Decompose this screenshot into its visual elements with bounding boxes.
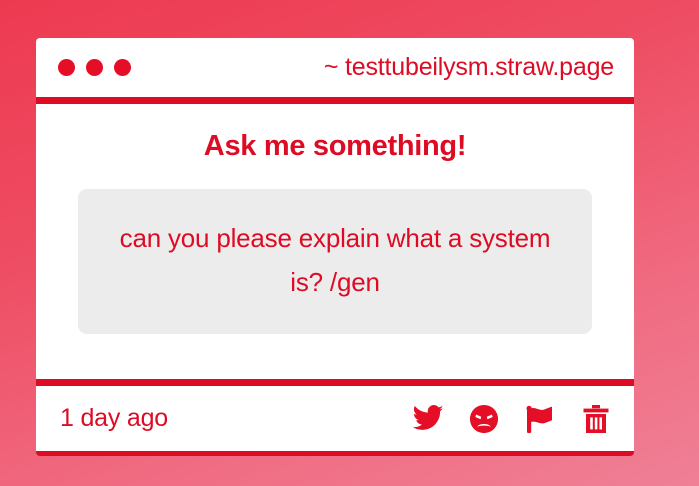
report-flag-button[interactable] <box>524 403 556 435</box>
card-header: ~ testtubeilysm.straw.page <box>36 38 634 104</box>
twitter-icon <box>412 405 444 433</box>
footer-actions <box>412 403 612 435</box>
window-dots <box>58 59 131 76</box>
window-dot-close-icon[interactable] <box>58 59 75 76</box>
message-text: can you please explain what a system is?… <box>112 217 558 304</box>
site-url: ~ testtubeilysm.straw.page <box>324 53 614 82</box>
page-title: Ask me something! <box>204 130 466 163</box>
delete-button[interactable] <box>580 403 612 435</box>
angry-react-button[interactable] <box>468 403 500 435</box>
timestamp: 1 day ago <box>60 404 168 433</box>
window-dot-maximize-icon[interactable] <box>114 59 131 76</box>
twitter-share-button[interactable] <box>412 403 444 435</box>
card-footer: 1 day ago <box>36 379 634 451</box>
card-body: Ask me something! can you please explain… <box>36 104 634 379</box>
post-card: ~ testtubeilysm.straw.page Ask me someth… <box>36 38 634 456</box>
angry-face-icon <box>469 404 499 434</box>
window-dot-minimize-icon[interactable] <box>86 59 103 76</box>
trash-icon <box>582 404 610 434</box>
message-bubble: can you please explain what a system is?… <box>78 189 592 334</box>
flag-icon <box>524 404 556 434</box>
